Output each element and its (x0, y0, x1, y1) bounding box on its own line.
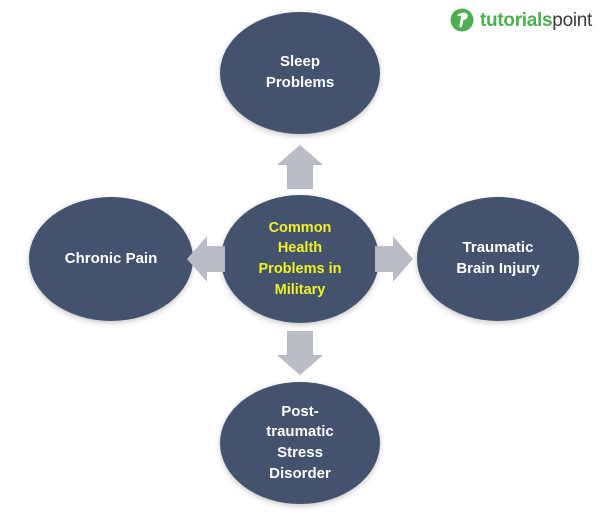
arrow-right-icon (374, 235, 414, 283)
node-common-health-problems-in-military[interactable]: Common Health Problems in Military (221, 195, 379, 323)
node-post-traumatic-stress-disorder[interactable]: Post- traumatic Stress Disorder (220, 382, 380, 504)
node-label: Traumatic Brain Injury (442, 238, 553, 279)
node-label: Chronic Pain (51, 249, 172, 270)
node-chronic-pain[interactable]: Chronic Pain (29, 197, 193, 321)
arrow-left-icon (186, 235, 226, 283)
node-sleep-problems[interactable]: Sleep Problems (220, 12, 380, 134)
brand-wordmark: tutorialspoint (480, 11, 592, 30)
arrow-down-icon (276, 330, 324, 376)
node-label: Sleep Problems (252, 52, 348, 93)
tutorialspoint-logo-icon (450, 8, 474, 32)
brand-word-secondary: point (552, 10, 592, 31)
node-label: Post- traumatic Stress Disorder (252, 402, 348, 485)
arrow-up-icon (276, 144, 324, 190)
tutorialspoint-logo[interactable]: tutorialspoint (450, 6, 592, 34)
diagram-canvas: tutorialspoint Sleep Problems Chronic Pa… (0, 0, 600, 519)
brand-word-primary: tutorials (480, 10, 552, 31)
node-label: Common Health Problems in Military (245, 218, 356, 300)
node-traumatic-brain-injury[interactable]: Traumatic Brain Injury (417, 197, 579, 321)
